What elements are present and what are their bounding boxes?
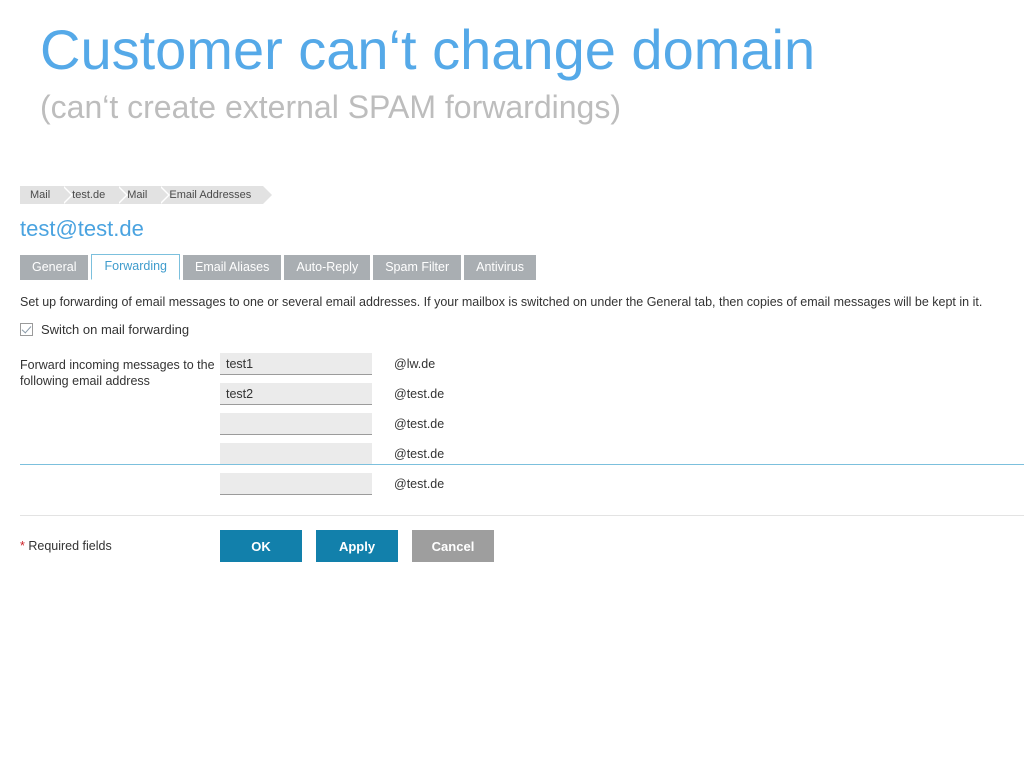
chevron-right-icon <box>159 186 168 204</box>
breadcrumb-label: Email Addresses <box>169 189 251 201</box>
chevron-right-icon <box>263 186 272 204</box>
tab-bar: General Forwarding Email Aliases Auto-Re… <box>20 254 1024 280</box>
forward-domain-suffix-3: @test.de <box>394 417 444 431</box>
chevron-right-icon <box>117 186 126 204</box>
breadcrumb: Mail test.de Mail Email Addresses <box>20 186 263 204</box>
forward-row: @test.de <box>220 443 444 465</box>
slide-subtitle: (can‘t create external SPAM forwardings) <box>40 88 1024 126</box>
slide-header: Customer can‘t change domain (can‘t crea… <box>0 0 1024 126</box>
forward-domain-suffix-5: @test.de <box>394 477 444 491</box>
forward-address-input-3[interactable] <box>220 413 372 435</box>
forward-address-input-4[interactable] <box>220 443 372 465</box>
switch-on-mail-forwarding-row[interactable]: Switch on mail forwarding <box>20 322 1024 337</box>
tab-spam-filter[interactable]: Spam Filter <box>373 255 461 280</box>
forward-row: @lw.de <box>220 353 444 375</box>
tab-email-aliases[interactable]: Email Aliases <box>183 255 281 280</box>
breadcrumb-label: Mail <box>30 189 50 201</box>
slide-title: Customer can‘t change domain <box>40 18 1024 82</box>
required-fields-note: * Required fields <box>20 539 220 553</box>
tab-bar-underline <box>20 464 1024 465</box>
switch-on-mail-forwarding-checkbox[interactable] <box>20 323 33 336</box>
tab-antivirus[interactable]: Antivirus <box>464 255 536 280</box>
switch-on-mail-forwarding-label: Switch on mail forwarding <box>41 322 189 337</box>
ok-button[interactable]: OK <box>220 530 302 562</box>
cancel-button[interactable]: Cancel <box>412 530 494 562</box>
breadcrumb-item-email-addresses[interactable]: Email Addresses <box>159 186 263 204</box>
forward-address-input-2[interactable] <box>220 383 372 405</box>
breadcrumb-label: Mail <box>127 189 147 201</box>
forward-address-field-block: Forward incoming messages to the followi… <box>20 353 1024 503</box>
form-description: Set up forwarding of email messages to o… <box>20 294 1024 310</box>
apply-button[interactable]: Apply <box>316 530 398 562</box>
forward-domain-suffix-2: @test.de <box>394 387 444 401</box>
forward-row: @test.de <box>220 413 444 435</box>
forward-address-label: Forward incoming messages to the followi… <box>20 353 220 389</box>
forwarding-form: Set up forwarding of email messages to o… <box>20 294 1024 562</box>
forward-address-input-1[interactable] <box>220 353 372 375</box>
forward-row: @test.de <box>220 383 444 405</box>
breadcrumb-item-mail[interactable]: Mail <box>20 186 62 204</box>
forward-domain-suffix-1: @lw.de <box>394 357 435 371</box>
forward-row: @test.de <box>220 473 444 495</box>
footer-divider <box>20 515 1024 516</box>
chevron-right-icon <box>62 186 71 204</box>
forward-address-inputs: @lw.de @test.de @test.de @test.de @test. <box>220 353 444 503</box>
page-title: test@test.de <box>20 216 1024 242</box>
breadcrumb-label: test.de <box>72 189 105 201</box>
forward-domain-suffix-4: @test.de <box>394 447 444 461</box>
form-footer: * Required fields OK Apply Cancel <box>20 530 1024 562</box>
tab-forwarding[interactable]: Forwarding <box>91 254 180 280</box>
forward-address-input-5[interactable] <box>220 473 372 495</box>
tab-auto-reply[interactable]: Auto-Reply <box>284 255 370 280</box>
plesk-panel: Mail test.de Mail Email Addresses test@t… <box>0 186 1024 562</box>
tab-general[interactable]: General <box>20 255 88 280</box>
required-fields-text: Required fields <box>25 539 112 553</box>
